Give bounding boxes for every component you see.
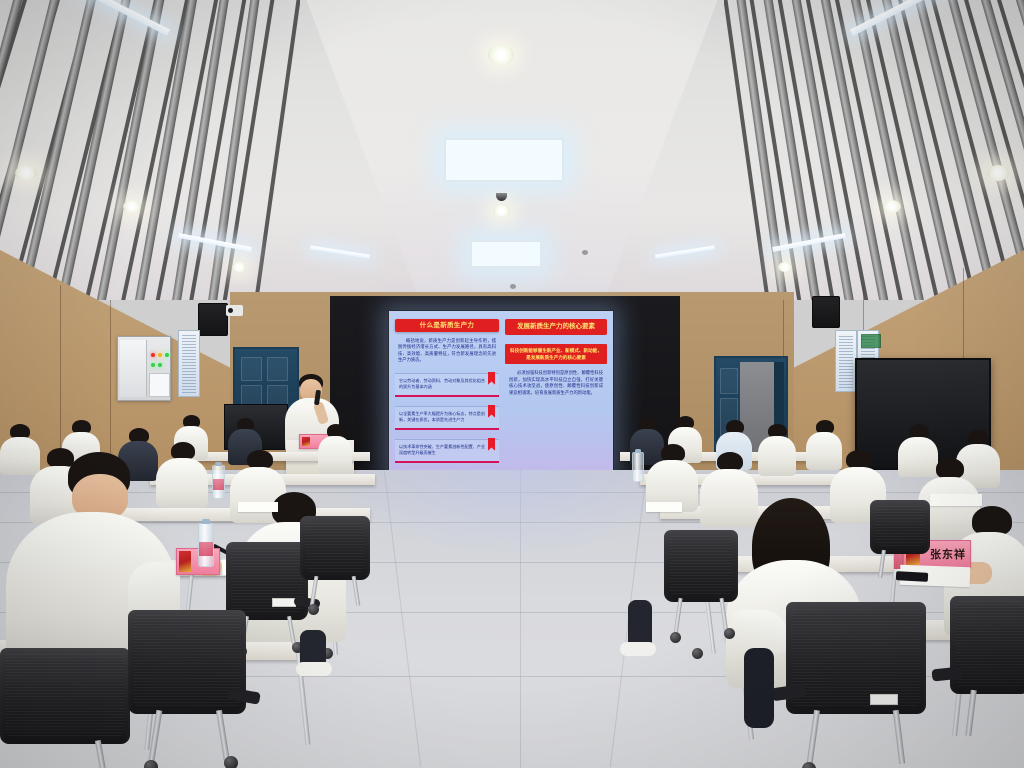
downlight-7 [883, 200, 901, 213]
chair-leg [806, 710, 820, 768]
chair-mesh [133, 615, 241, 706]
status-led-red [151, 353, 155, 357]
shoe [296, 662, 332, 676]
chair-mesh [955, 601, 1024, 686]
mesh-office-chair [870, 500, 930, 580]
camera-lens-icon [228, 308, 233, 313]
downlight-1 [488, 45, 514, 65]
attendee-leg [744, 648, 774, 728]
ceiling [0, 0, 1024, 300]
notebook [238, 502, 278, 512]
chair-caster [224, 756, 238, 768]
bottle-cap [215, 462, 222, 466]
wall-camera-left [226, 305, 243, 316]
chair-label-tag [272, 598, 296, 607]
status-led-green-3 [158, 363, 162, 367]
slide-right-banner: 科技创新能够催生新产业、新模式、新动能，是发展新质生产力的核心要素 [505, 344, 607, 364]
chair-leg [965, 690, 977, 736]
attendee [646, 444, 698, 510]
status-led-amber [158, 353, 162, 357]
chair-leg [148, 710, 163, 766]
downlight-4 [123, 200, 141, 213]
water-bottle [212, 465, 225, 499]
chair-backrest [300, 516, 370, 580]
chair-mesh [791, 607, 921, 706]
bookmark-icon [488, 372, 495, 385]
panel-light-2 [470, 240, 542, 268]
bottle-label [213, 479, 224, 490]
projection-screen: 什么是新质生产力 概括地说，新质生产力是创新起主导作用，摆脱传统经济增长方式、生… [388, 310, 614, 477]
slide-bullet-box: 以技术革命性突破、生产要素创新性配置、产业深度转型升级而催生 [395, 439, 499, 463]
bottle-cap [635, 449, 641, 453]
slide-left-paragraph: 概括地说，新质生产力是创新起主导作用，摆脱传统经济增长方式、生产力发展路径，具有… [395, 338, 499, 364]
slide-right-paragraph: 必须加强科技创新特别是原创性、颠覆性科技创新，加快实现高水平科技自立自强，打好关… [505, 370, 607, 396]
poster-text-lines [182, 334, 196, 393]
chair-caster [308, 604, 319, 615]
wall-speaker-left [198, 303, 228, 336]
shoe [620, 642, 656, 656]
mesh-office-chair [300, 516, 370, 608]
name-card-decoration [302, 437, 310, 446]
chair-leg [216, 710, 230, 762]
wall-control-panel[interactable] [117, 336, 171, 401]
chair-mesh [305, 521, 365, 572]
status-led-green-2 [151, 363, 155, 367]
chair-mesh [875, 505, 925, 546]
mesh-office-chair [950, 596, 1024, 736]
attendee-hair [936, 458, 964, 479]
mesh-office-chair [786, 602, 926, 768]
chair-leg [878, 550, 886, 578]
wall-speaker-right [812, 296, 840, 328]
attendee [318, 424, 352, 470]
mesh-office-chair [128, 610, 246, 768]
bottle-label [199, 542, 213, 556]
downlight-2 [493, 205, 510, 217]
door-panel [241, 357, 262, 381]
poster-text-lines [839, 334, 853, 388]
downlight-5 [232, 262, 246, 272]
floor-light-reflection [330, 470, 690, 560]
chair-backrest [664, 530, 738, 602]
door-panel [720, 368, 738, 394]
exit-sign [861, 334, 881, 348]
slide-bullet-box: 它以劳动者、劳动资料、劳动对象及其优化组合的跃升为基本内涵 [395, 373, 499, 397]
slide-right-title: 发展新质生产力的核心要素 [505, 319, 607, 335]
attendee-shirt [318, 436, 352, 474]
slide-left-column: 什么是新质生产力 概括地说，新质生产力是创新起主导作用，摆脱传统经济增长方式、生… [395, 319, 499, 463]
name-card-text: 张东祥 [930, 546, 970, 562]
attendee [758, 424, 796, 472]
wall-poster-left [178, 330, 200, 397]
presentation-slide: 什么是新质生产力 概括地说，新质生产力是创新起主导作用，摆脱传统经济增长方式、生… [389, 311, 613, 476]
meeting-room-photo: 什么是新质生产力 概括地说，新质生产力是创新起主导作用，摆脱传统经济增长方式、生… [0, 0, 1024, 768]
status-led-green [165, 353, 169, 357]
chair-backrest [950, 596, 1024, 694]
panel-light-1 [444, 138, 564, 182]
chair-caster [144, 760, 158, 768]
water-bottle [198, 523, 214, 567]
water-bottle [632, 452, 644, 482]
wall-poster-right-1 [835, 330, 857, 392]
bookmark-icon [488, 405, 495, 418]
notebook [646, 502, 682, 512]
chair-backrest [786, 602, 926, 714]
mesh-office-chair [664, 530, 738, 642]
chair-backrest [870, 500, 930, 554]
slide-bullet-box: 以全要素生产率大幅提升为核心标志，特点是创新，关键在质优，本质是先进生产力 [395, 406, 499, 430]
name-card-decoration [179, 551, 191, 572]
downlight-6 [987, 165, 1009, 181]
chair-mesh [669, 535, 733, 594]
chair-caster [724, 628, 735, 639]
sprinkler-head-2 [510, 284, 516, 289]
chair-label-tag [870, 694, 898, 705]
chair-backrest [0, 648, 130, 744]
chair-leg [893, 710, 906, 764]
slide-bullet-text: 以全要素生产率大幅提升为核心标志，特点是创新，关键在质优，本质是先进生产力 [399, 411, 485, 422]
ceiling-baffle-slats-right [724, 0, 1024, 300]
chair-caster [802, 762, 816, 768]
downlight-8 [778, 262, 792, 272]
bookmark-icon [488, 438, 495, 451]
slide-bullet-text: 以技术革命性突破、生产要素创新性配置、产业深度转型升级而催生 [399, 444, 485, 455]
strip-light-5 [310, 245, 370, 258]
chair-backrest [226, 542, 308, 620]
bottle-cap [202, 519, 210, 524]
slide-right-column: 发展新质生产力的核心要素 科技创新能够催生新产业、新模式、新动能，是发展新质生产… [505, 319, 607, 396]
downlight-3 [15, 165, 37, 181]
mesh-office-chair [0, 648, 130, 768]
chair-leg [673, 598, 682, 636]
attendee-shirt [758, 436, 796, 476]
chair-caster [670, 632, 681, 643]
slide-left-title: 什么是新质生产力 [395, 319, 499, 332]
slide-bullet-text: 它以劳动者、劳动资料、劳动对象及其优化组合的跃升为基本内涵 [399, 378, 485, 389]
chair-mesh [5, 653, 125, 736]
chair-leg [352, 576, 361, 606]
sprinkler-head [582, 250, 588, 255]
chair-leg [95, 740, 111, 768]
ceiling-baffle-slats-left [0, 0, 300, 300]
table-caster [692, 648, 703, 659]
strip-light-6 [655, 245, 715, 258]
notebook [930, 494, 982, 506]
